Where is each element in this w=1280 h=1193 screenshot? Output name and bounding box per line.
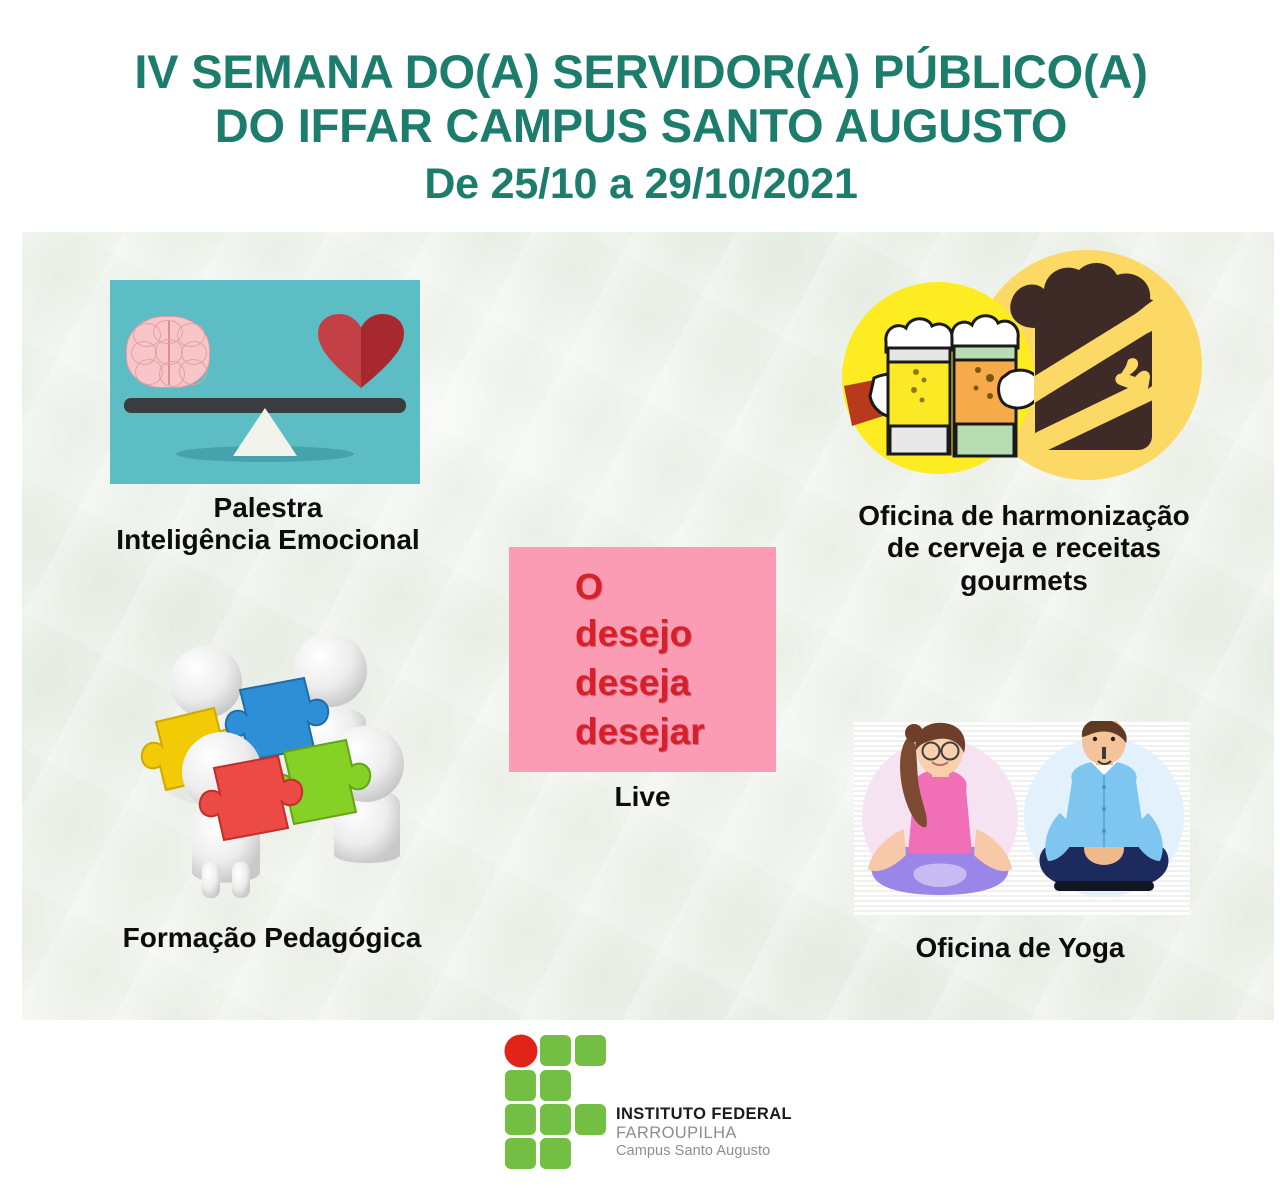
live-line-2: desejo — [575, 610, 776, 659]
beer-mugs-icon — [844, 294, 1034, 466]
live-line-1: O — [575, 563, 776, 611]
iffar-logo: INSTITUTO FEDERAL FARROUPILHA Campus San… — [504, 1034, 792, 1170]
iffar-logo-mark — [504, 1034, 608, 1170]
logo-line-farroupilha: FARROUPILHA — [616, 1124, 792, 1143]
yoga-image — [854, 721, 1190, 915]
live-line-4: desejar — [575, 708, 776, 757]
brain-heart-balance-image — [110, 280, 420, 484]
title-line-2: DO IFFAR CAMPUS SANTO AUGUSTO — [215, 99, 1067, 154]
poster-title-band: IV SEMANA DO(A) SERVIDOR(A) PÚBLICO(A) D… — [10, 4, 1272, 232]
logo-line-instituto-federal: INSTITUTO FEDERAL — [616, 1105, 792, 1124]
logo-line-campus: Campus Santo Augusto — [616, 1143, 792, 1160]
caption-palestra-inteligencia-emocional: Palestra Inteligência Emocional — [58, 492, 478, 557]
beer-and-chef-image — [842, 250, 1202, 492]
poster-content-area: Palestra Inteligência Emocional — [22, 232, 1274, 1020]
live-pink-box: O desejo deseja desejar — [509, 547, 776, 772]
caption-live: Live — [509, 781, 776, 813]
balance-fulcrum — [233, 408, 297, 456]
heart-icon — [318, 314, 404, 388]
brain-icon — [126, 316, 210, 388]
poster-slide: IV SEMANA DO(A) SERVIDOR(A) PÚBLICO(A) D… — [0, 0, 1280, 1193]
title-line-3-dates: De 25/10 a 29/10/2021 — [424, 154, 857, 210]
title-line-1: IV SEMANA DO(A) SERVIDOR(A) PÚBLICO(A) — [134, 45, 1147, 100]
yoga-people-graphic — [854, 721, 1190, 915]
team-puzzle-image — [118, 604, 458, 904]
caption-oficina-harmonizacao: Oficina de harmonização de cerveja e rec… — [814, 500, 1234, 597]
caption-formacao-pedagogica: Formação Pedagógica — [62, 922, 482, 954]
puzzle-team-graphic — [118, 604, 458, 904]
caption-oficina-yoga: Oficina de Yoga — [810, 932, 1230, 964]
iffar-logo-text: INSTITUTO FEDERAL FARROUPILHA Campus San… — [616, 1105, 792, 1170]
logo-red-circle — [504, 1035, 537, 1068]
live-line-3: deseja — [575, 659, 776, 708]
poster-footer: INSTITUTO FEDERAL FARROUPILHA Campus San… — [22, 1020, 1274, 1190]
